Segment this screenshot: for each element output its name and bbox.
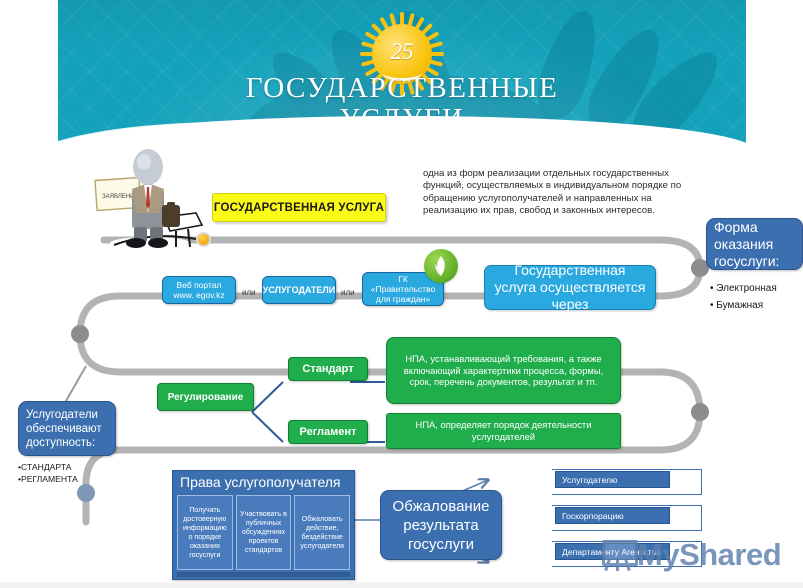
channel-1-line1: УСЛУГОДАТЕЛИ xyxy=(263,285,335,295)
channel-box-0[interactable]: Веб портал www. egov.kz xyxy=(162,276,236,304)
service-form-title: Форма оказания госуслуги: xyxy=(714,219,795,270)
providers-note-bullet-0: •СТАНДАРТА xyxy=(18,461,128,473)
gov-for-citizens-leaf-icon xyxy=(424,249,458,283)
appeal-target-0[interactable]: Услугодателю xyxy=(555,471,670,488)
channel-2-line2: «Правительство для граждан» xyxy=(365,284,441,304)
regulation-root-text: Регулирование xyxy=(168,392,244,403)
infographic-canvas: 25 ГОСУДАРСТВЕННЫЕ УСЛУГИ xyxy=(0,0,803,588)
state-service-label-text: ГОСУДАРСТВЕННАЯ УСЛУГА xyxy=(214,202,384,214)
rights-table-columns: Получать достоверную информацию о порядк… xyxy=(177,495,350,570)
regulation-item-1-desc-box: НПА, определяет порядок деятельности усл… xyxy=(386,413,621,449)
rights-table-footer xyxy=(177,572,350,577)
regulation-item-1-desc: НПА, определяет порядок деятельности усл… xyxy=(395,419,612,443)
page-title-line1: ГОСУДАРСТВЕННЫЕ xyxy=(58,72,746,104)
appeal-title: Обжалование результата госуслуги xyxy=(381,497,501,554)
service-form-bullets: • Электронная • Бумажная xyxy=(710,280,803,314)
path-start-dot xyxy=(196,232,211,247)
watermark-text: MyShared xyxy=(637,537,781,573)
service-form-bullet-0: • Электронная xyxy=(710,280,803,297)
regulation-root-box[interactable]: Регулирование xyxy=(157,383,254,411)
connector-or-1: или xyxy=(341,288,355,297)
regulation-item-0-box[interactable]: Стандарт xyxy=(288,357,368,381)
definition-text: одна из форм реализации отдельных госуда… xyxy=(423,168,691,218)
watermark: MyShared xyxy=(598,529,803,581)
rights-table-title: Права услугополучателя xyxy=(173,471,354,493)
channels-title-text: Государственная услуга осуществляется че… xyxy=(493,262,647,313)
providers-note-title: Услугодатели обеспечивают доступность: xyxy=(26,408,108,450)
businessman-icon: ЗАЯВЛЕНИЕ xyxy=(92,143,212,255)
channel-box-1[interactable]: УСЛУГОДАТЕЛИ xyxy=(262,276,336,304)
appeal-target-1[interactable]: Госкорпорацию xyxy=(555,507,670,524)
channel-0-line1: Веб портал xyxy=(177,280,222,290)
regulation-item-0-name: Стандарт xyxy=(302,363,353,375)
regulation-item-0-desc: НПА, устанавливающий требования, а также… xyxy=(395,353,612,388)
providers-note-bullet-1: •РЕГЛАМЕНТА xyxy=(18,473,128,485)
service-form-box: Форма оказания госуслуги: xyxy=(706,218,803,270)
channel-0-line2: www. egov.kz xyxy=(173,290,224,300)
rights-table: Права услугополучателя Получать достовер… xyxy=(172,470,355,580)
channel-2-line1: ГК xyxy=(398,274,408,284)
regulation-item-1-box[interactable]: Регламент xyxy=(288,420,368,444)
rights-column-1: Участвовать в публичных обсуждениях прое… xyxy=(236,495,292,570)
header-banner: 25 ГОСУДАРСТВЕННЫЕ УСЛУГИ xyxy=(58,0,746,152)
appeal-target-1-label: Госкорпорацию xyxy=(562,511,624,521)
regulation-item-1-name: Регламент xyxy=(300,426,357,438)
connector-or-0: или xyxy=(242,288,256,297)
providers-note-box: Услугодатели обеспечивают доступность: xyxy=(18,401,116,456)
regulation-item-0-desc-box: НПА, устанавливающий требования, а также… xyxy=(386,337,621,404)
appeal-target-0-label: Услугодателю xyxy=(562,475,617,485)
appeal-box: Обжалование результата госуслуги xyxy=(380,490,502,560)
providers-note-bullets: •СТАНДАРТА •РЕГЛАМЕНТА xyxy=(18,461,128,485)
projector-icon xyxy=(598,538,636,572)
service-form-bullet-1: • Бумажная xyxy=(710,297,803,314)
footer-strip xyxy=(0,582,803,588)
rights-column-0: Получать достоверную информацию о порядк… xyxy=(177,495,233,570)
state-service-label: ГОСУДАРСТВЕННАЯ УСЛУГА xyxy=(212,193,386,222)
rights-column-2: Обжаловать действие, бездействие услугод… xyxy=(294,495,350,570)
channels-title-box: Государственная услуга осуществляется че… xyxy=(484,265,656,310)
